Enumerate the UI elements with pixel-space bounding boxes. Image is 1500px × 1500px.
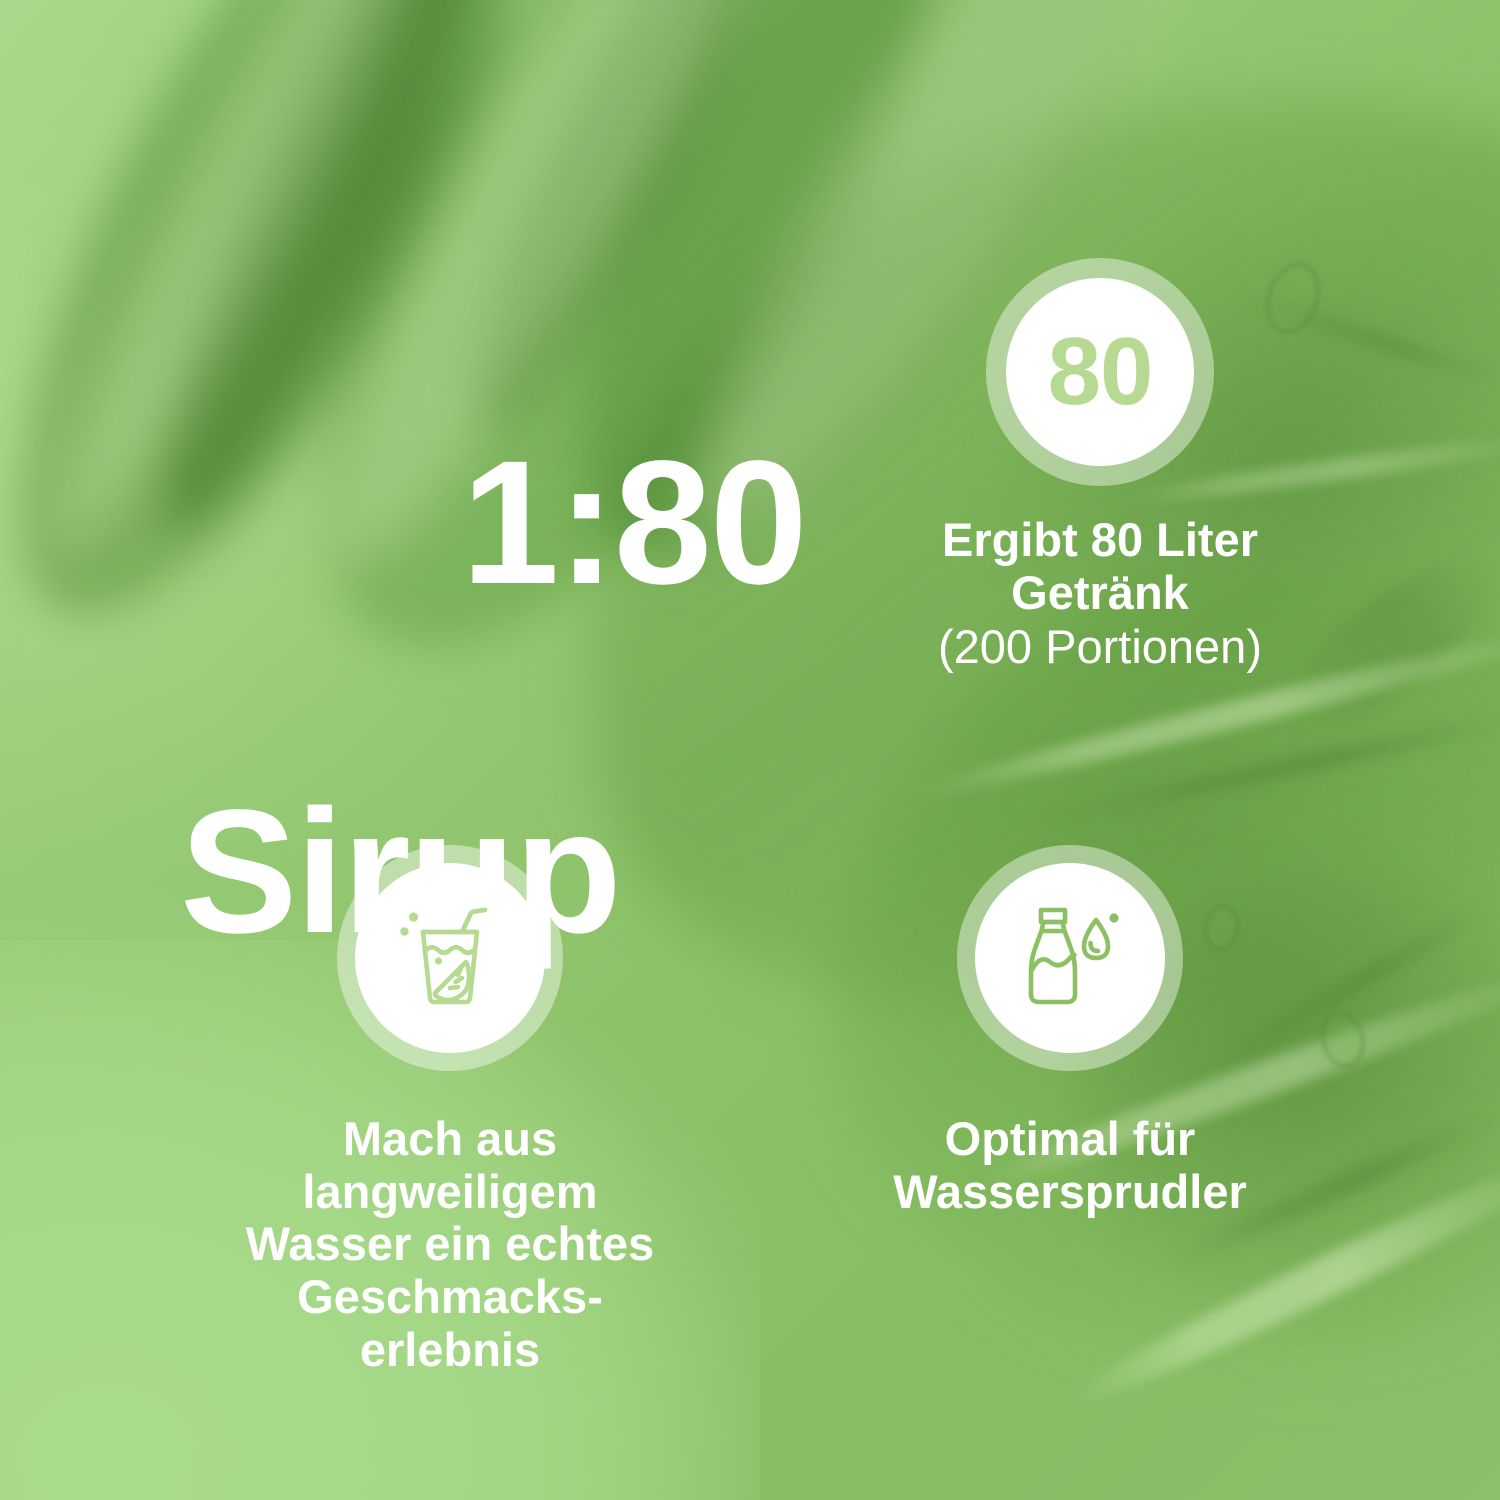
badge-inner-80: 80	[1006, 278, 1194, 466]
badge-inner-glass	[355, 863, 545, 1053]
feature-liters: 80 Ergibt 80 Liter Getränk (200 Portione…	[820, 258, 1380, 674]
feature-liters-subcaption: (200 Portionen)	[820, 621, 1380, 674]
badge-ring-bottle	[957, 845, 1183, 1071]
product-feature-graphic: 1:80 Sirup 80 Ergibt 80 Liter Getränk (2…	[0, 0, 1500, 1500]
bottle-with-water-drop-icon	[1010, 898, 1130, 1018]
feature-liters-caption: Ergibt 80 Liter Getränk	[820, 514, 1380, 619]
feature-sparkling-caption: Optimal für Wassersprudler	[790, 1113, 1350, 1218]
badge-ring-glass	[337, 845, 563, 1071]
badge-inner-bottle	[975, 863, 1165, 1053]
feature-taste-caption: Mach aus langweiligem Wasser ein echtes …	[170, 1113, 730, 1376]
content-layer: 1:80 Sirup 80 Ergibt 80 Liter Getränk (2…	[0, 0, 1500, 1500]
number-80-badge-icon: 80	[1048, 324, 1153, 420]
drink-glass-with-straw-and-lemon-icon	[390, 898, 510, 1018]
badge-ring-80: 80	[986, 258, 1214, 486]
headline-ratio: 1:80	[461, 425, 805, 621]
feature-sparkling: Optimal für Wassersprudler	[790, 845, 1350, 1218]
feature-taste: Mach aus langweiligem Wasser ein echtes …	[170, 845, 730, 1376]
